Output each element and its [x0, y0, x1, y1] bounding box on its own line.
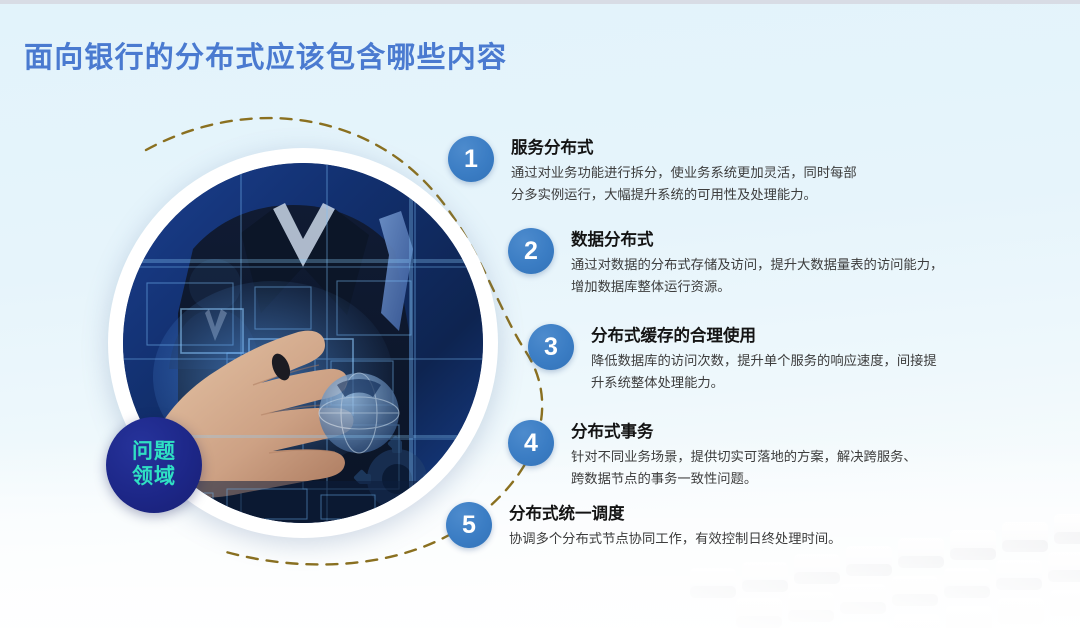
list-item-text-3: 分布式缓存的合理使用 降低数据库的访问次数，提升单个服务的响应速度，间接提 升系… [591, 324, 937, 393]
number-badge-5: 5 [446, 502, 492, 548]
list-item-heading-4: 分布式事务 [571, 421, 917, 443]
list-item-body-5: 协调多个分布式节点协同工作，有效控制日终处理时间。 [509, 528, 841, 550]
list-item-3: 3 分布式缓存的合理使用 降低数据库的访问次数，提升单个服务的响应速度，间接提 … [528, 324, 937, 393]
list-item-5: 5 分布式统一调度 协调多个分布式节点协同工作，有效控制日终处理时间。 [446, 502, 841, 550]
number-badge-2: 2 [508, 228, 554, 274]
page-title: 面向银行的分布式应该包含哪些内容 [24, 34, 507, 76]
list-item-text-1: 服务分布式 通过对业务功能进行拆分，使业务系统更加灵活，同时每部 分多实例运行，… [511, 136, 857, 205]
number-badge-1: 1 [448, 136, 494, 182]
number-badge-3: 3 [528, 324, 574, 370]
list-item-text-2: 数据分布式 通过对数据的分布式存储及访问，提升大数据量表的访问能力， 增加数据库… [571, 228, 943, 297]
list-item-2: 2 数据分布式 通过对数据的分布式存储及访问，提升大数据量表的访问能力， 增加数… [508, 228, 943, 297]
badge-line-1: 问题 [132, 440, 176, 465]
number-badge-4: 4 [508, 420, 554, 466]
list-item-heading-2: 数据分布式 [571, 229, 943, 251]
badge-line-2: 领域 [132, 465, 176, 490]
list-item-1: 1 服务分布式 通过对业务功能进行拆分，使业务系统更加灵活，同时每部 分多实例运… [448, 136, 857, 205]
list-item-text-4: 分布式事务 针对不同业务场景，提供切实可落地的方案，解决跨服务、 跨数据节点的事… [571, 420, 917, 489]
list-item-body-1: 通过对业务功能进行拆分，使业务系统更加灵活，同时每部 分多实例运行，大幅提升系统… [511, 162, 857, 205]
list-item-4: 4 分布式事务 针对不同业务场景，提供切实可落地的方案，解决跨服务、 跨数据节点… [508, 420, 917, 489]
slide-root: 面向银行的分布式应该包含哪些内容 [0, 0, 1080, 628]
list-item-heading-3: 分布式缓存的合理使用 [591, 325, 937, 347]
list-item-body-4: 针对不同业务场景，提供切实可落地的方案，解决跨服务、 跨数据节点的事务一致性问题… [571, 446, 917, 489]
list-item-body-3: 降低数据库的访问次数，提升单个服务的响应速度，间接提 升系统整体处理能力。 [591, 350, 937, 393]
problem-domain-badge: 问题 领域 [106, 417, 202, 513]
list-item-text-5: 分布式统一调度 协调多个分布式节点协同工作，有效控制日终处理时间。 [509, 502, 841, 550]
top-band [0, 0, 1080, 4]
list-item-heading-5: 分布式统一调度 [509, 503, 841, 525]
list-item-body-2: 通过对数据的分布式存储及访问，提升大数据量表的访问能力， 增加数据库整体运行资源… [571, 254, 943, 297]
list-item-heading-1: 服务分布式 [511, 137, 857, 159]
